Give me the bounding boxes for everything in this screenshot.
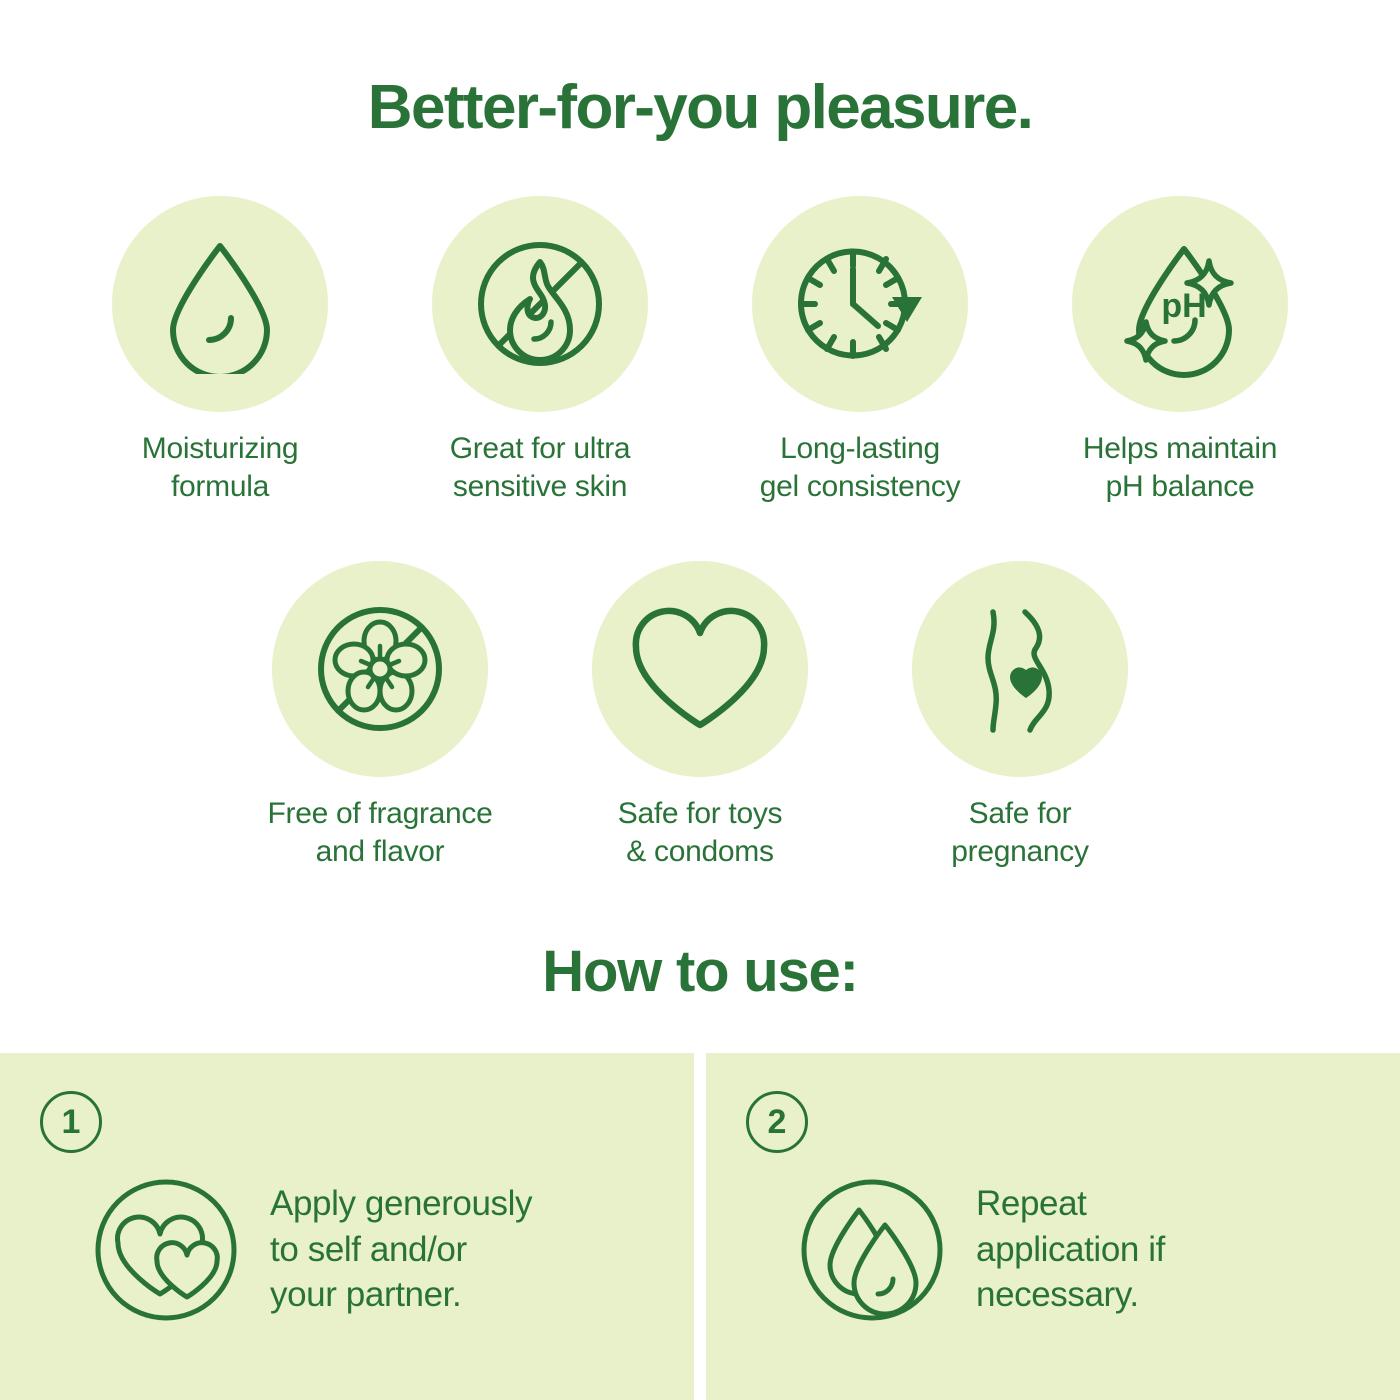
clock-arrow-icon bbox=[782, 229, 938, 379]
pregnancy-belly-icon bbox=[950, 594, 1090, 744]
feature-ph-balance: pH Helps maintain pH balance bbox=[1067, 196, 1293, 507]
heart-icon bbox=[622, 599, 778, 739]
ph-droplet-sparkle-icon: pH bbox=[1105, 229, 1255, 379]
feature-label: Safe for pregnancy bbox=[951, 795, 1088, 872]
ph-label: pH bbox=[1161, 287, 1206, 325]
no-flower-icon bbox=[305, 594, 455, 744]
feature-grid: Moisturizing formula Great for ultra sen… bbox=[0, 196, 1400, 872]
step-number-badge: 2 bbox=[746, 1091, 808, 1153]
feature-sensitive-skin: Great for ultra sensitive skin bbox=[427, 196, 653, 507]
feature-label: Helps maintain pH balance bbox=[1083, 430, 1277, 507]
feature-moisturizing-formula: Moisturizing formula bbox=[107, 196, 333, 507]
feature-label: Free of fragrance and flavor bbox=[267, 795, 492, 872]
page-title: Better-for-you pleasure. bbox=[0, 74, 1400, 142]
two-droplets-circle-icon bbox=[792, 1170, 952, 1330]
feature-label: Great for ultra sensitive skin bbox=[450, 430, 631, 507]
feature-label: Safe for toys & condoms bbox=[618, 795, 783, 872]
feature-badge bbox=[272, 561, 488, 777]
droplet-icon bbox=[155, 234, 285, 374]
feature-toy-condom-safe: Safe for toys & condoms bbox=[587, 561, 813, 872]
feature-badge bbox=[592, 561, 808, 777]
no-flame-icon bbox=[465, 229, 615, 379]
feature-row-1: Moisturizing formula Great for ultra sen… bbox=[0, 196, 1400, 507]
feature-label: Moisturizing formula bbox=[142, 430, 298, 507]
howto-step-2: 2 Repeat application if necessary. bbox=[706, 1053, 1400, 1400]
feature-long-lasting: Long-lasting gel consistency bbox=[747, 196, 973, 507]
step-content: Repeat application if necessary. bbox=[792, 1170, 1165, 1330]
feature-fragrance-free: Free of fragrance and flavor bbox=[267, 561, 493, 872]
step-text: Repeat application if necessary. bbox=[976, 1181, 1165, 1318]
feature-label: Long-lasting gel consistency bbox=[760, 430, 961, 507]
feature-badge: pH bbox=[1072, 196, 1288, 412]
feature-badge bbox=[432, 196, 648, 412]
howto-step-1: 1 Apply generously to self and/or your p… bbox=[0, 1053, 694, 1400]
infographic-page: Better-for-you pleasure. Moisturizing fo… bbox=[0, 0, 1400, 1400]
feature-badge bbox=[912, 561, 1128, 777]
feature-badge bbox=[752, 196, 968, 412]
feature-badge bbox=[112, 196, 328, 412]
feature-row-2: Free of fragrance and flavor Safe for to… bbox=[0, 561, 1400, 872]
howto-heading: How to use: bbox=[0, 938, 1400, 1005]
howto-steps: 1 Apply generously to self and/or your p… bbox=[0, 1053, 1400, 1400]
feature-pregnancy-safe: Safe for pregnancy bbox=[907, 561, 1133, 872]
step-text: Apply generously to self and/or your par… bbox=[270, 1181, 532, 1318]
step-number-badge: 1 bbox=[40, 1091, 102, 1153]
two-hearts-circle-icon bbox=[86, 1170, 246, 1330]
step-content: Apply generously to self and/or your par… bbox=[86, 1170, 532, 1330]
